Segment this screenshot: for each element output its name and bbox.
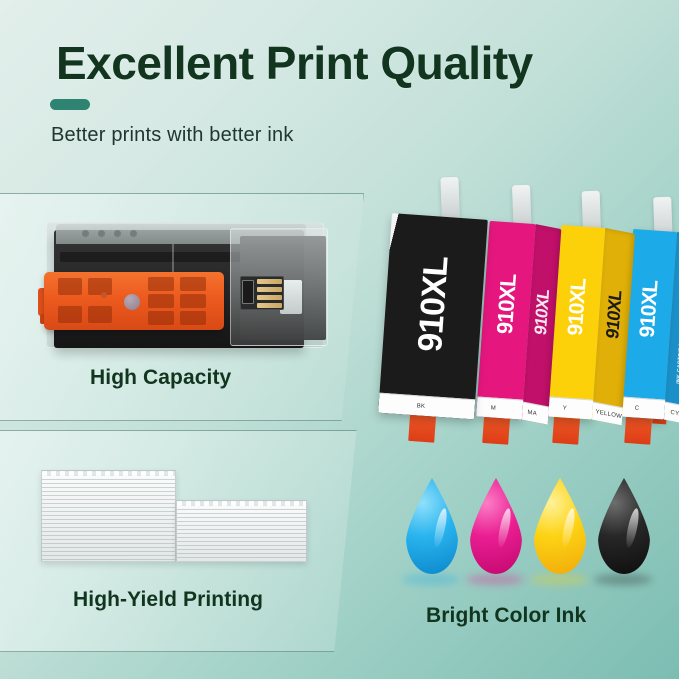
paper-stack-large bbox=[41, 470, 176, 562]
cartridge-set-image: 910XL BK 910XL M 910XL MA 910XL bbox=[372, 186, 672, 441]
cartridge-model-label: 910XL bbox=[411, 255, 457, 353]
paper-stack-small bbox=[176, 500, 307, 562]
cartridge-color-name: YELLOW bbox=[595, 409, 622, 420]
chip-contact-pads bbox=[257, 279, 282, 308]
yellow-drop-icon bbox=[534, 478, 586, 574]
cyan-drop-icon bbox=[406, 478, 458, 574]
cartridge-color-code: C bbox=[634, 405, 639, 411]
cartridge-face: 910XL BK bbox=[378, 213, 488, 419]
drop-shadow bbox=[402, 574, 460, 585]
cartridge-color-footer: Y bbox=[548, 397, 593, 420]
cartridge-side-footer: MA bbox=[522, 402, 549, 425]
cartridge-model-label: 910XL bbox=[636, 280, 664, 338]
cartridge-side-model: 910XL bbox=[602, 289, 626, 341]
cartridge-black: 910XL BK bbox=[378, 213, 488, 419]
cartridge-color-name: CYAN bbox=[670, 409, 679, 418]
accent-dash bbox=[50, 99, 90, 110]
cartridge-side-line1: INK CARTRIDGE bbox=[675, 339, 679, 385]
paper-lines bbox=[42, 471, 175, 561]
cartridge-side-model: 910XL bbox=[531, 288, 554, 337]
paper-ragged-top bbox=[42, 470, 175, 476]
high-capacity-cartridge-image bbox=[44, 222, 329, 352]
drop-shadow bbox=[594, 574, 652, 585]
caption-high-capacity: High Capacity bbox=[90, 366, 231, 390]
cartridge-top-dots bbox=[82, 230, 142, 237]
paper-lines bbox=[177, 501, 306, 561]
cartridge-color-footer: M bbox=[476, 396, 523, 419]
paper-ragged-top bbox=[177, 500, 306, 506]
page-title: Excellent Print Quality bbox=[56, 36, 533, 90]
cartridge-groove bbox=[60, 252, 250, 262]
cartridge-color-footer: BK bbox=[378, 393, 475, 420]
page-subtitle: Better prints with better ink bbox=[51, 124, 294, 147]
drop-shadow bbox=[466, 574, 524, 585]
cartridge-side-footer: YELLOW bbox=[592, 402, 623, 426]
cartridge-color-code: Y bbox=[562, 405, 567, 411]
cartridge-color-code: M bbox=[490, 405, 496, 411]
clip-knob bbox=[124, 294, 140, 310]
cartridge-color-name-short: MA bbox=[527, 409, 537, 417]
cartridge-model-label: 910XL bbox=[492, 274, 522, 335]
caption-bright-color: Bright Color Ink bbox=[426, 604, 586, 628]
magenta-drop-icon bbox=[470, 478, 522, 574]
cartridge-color-footer: C bbox=[620, 397, 665, 420]
cartridge-side-footer: CYAN bbox=[664, 402, 679, 427]
chip-ic-icon bbox=[242, 280, 254, 304]
caption-high-yield: High-Yield Printing bbox=[73, 588, 263, 612]
header: Excellent Print Quality Better prints wi… bbox=[0, 0, 679, 185]
cartridge-color-code: BK bbox=[416, 403, 425, 410]
ink-drops-group bbox=[404, 478, 654, 588]
black-drop-icon bbox=[598, 478, 650, 574]
clip-hole bbox=[101, 292, 107, 298]
cartridge-model-label: 910XL bbox=[564, 278, 592, 336]
drop-shadow bbox=[530, 574, 588, 585]
cartridge-grip bbox=[440, 177, 460, 222]
